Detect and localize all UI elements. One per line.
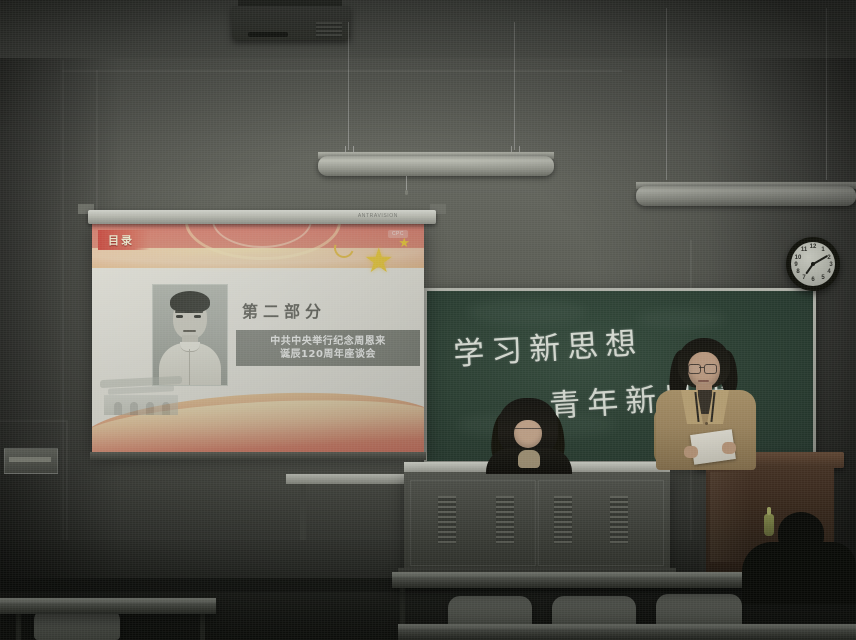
star-icon: ★ xyxy=(364,244,394,278)
classroom-photo: ANTRAVISION ★ ★ 目录 CPC xyxy=(0,0,856,640)
portrait-placket xyxy=(189,349,190,386)
slide-toc-badge: 目录 xyxy=(98,230,150,250)
portrait-eye xyxy=(194,315,201,318)
lamp-pull-cord[interactable] xyxy=(406,176,407,192)
person-foreground-body xyxy=(742,542,856,604)
portrait-eye xyxy=(176,315,183,318)
glasses-bridge xyxy=(699,367,704,368)
tiananmen-gate-icon xyxy=(100,374,182,418)
console-louver xyxy=(610,496,628,544)
water-bottle xyxy=(764,514,774,536)
slide-caption-line-1: 中共中央举行纪念周恩来 xyxy=(242,335,414,348)
lamp-wire xyxy=(348,22,349,150)
wall-seam xyxy=(62,70,622,72)
desk-edge xyxy=(398,624,856,629)
clock-numeral: 3 xyxy=(827,262,835,268)
glasses-icon xyxy=(515,428,541,435)
lamp-tube xyxy=(636,186,856,206)
tiananmen-arch xyxy=(146,402,154,415)
portrait-brow xyxy=(193,311,203,313)
console-louver xyxy=(438,496,456,544)
side-table-leg xyxy=(300,484,306,540)
console-door-left[interactable] xyxy=(410,480,536,566)
slide-corner-logo: CPC xyxy=(388,230,408,238)
slide-caption-band: 中共中央举行纪念周恩来 诞辰120周年座谈会 xyxy=(236,330,420,366)
clock-numeral: 10 xyxy=(794,255,802,261)
projection-screen-weight-bar xyxy=(90,452,426,460)
clock-face: 12 1 2 3 4 5 6 7 8 9 10 11 xyxy=(791,242,835,286)
slide-section-title: 第二部分 xyxy=(242,298,326,322)
hand-right xyxy=(722,442,736,454)
wall-clock: 12 1 2 3 4 5 6 7 8 9 10 11 xyxy=(786,237,840,291)
clock-numeral: 9 xyxy=(792,262,800,268)
clock-numeral: 8 xyxy=(794,269,802,275)
slide-caption-line-2: 诞辰120周年座谈会 xyxy=(242,348,414,361)
clock-centre-pin xyxy=(811,262,815,266)
tiananmen-arch xyxy=(130,402,138,415)
portrait-hair xyxy=(170,291,210,313)
person-seated-participant xyxy=(486,398,572,468)
lectern-highlight xyxy=(710,472,750,562)
presentation-slide: ★ ★ 目录 CPC 第二部分 中共中央举行纪念周恩来 诞辰120周年座 xyxy=(92,222,424,454)
teaching-console xyxy=(404,472,670,572)
lamp-wire xyxy=(514,22,515,150)
desk-leg xyxy=(16,612,21,640)
clock-numeral: 5 xyxy=(819,275,827,281)
console-louver xyxy=(496,496,514,544)
desk-edge xyxy=(0,598,216,603)
glasses-icon xyxy=(688,364,701,374)
person-standing-speaker xyxy=(654,338,758,470)
fluorescent-lamp-left xyxy=(318,142,554,178)
chalk-smudge xyxy=(637,309,727,329)
projection-screen: ★ ★ 目录 CPC 第二部分 中共中央举行纪念周恩来 诞辰120周年座 xyxy=(92,222,424,454)
student-desk-left xyxy=(0,598,216,614)
hand-left xyxy=(684,446,698,458)
projector-vent xyxy=(316,22,342,38)
wall-panel-slot xyxy=(9,457,51,462)
blackboard-text-line-1: 学习新思想 xyxy=(452,317,644,374)
clock-numeral: 11 xyxy=(800,247,808,253)
console-louver xyxy=(554,496,572,544)
clock-numeral: 12 xyxy=(809,244,817,250)
mouth xyxy=(698,380,709,382)
portrait-photo-zhou-enlai xyxy=(152,284,228,386)
clock-numeral: 7 xyxy=(800,275,808,281)
wall-utility-panel[interactable] xyxy=(4,448,58,474)
jacket-button xyxy=(705,422,708,425)
lamp-wire xyxy=(826,8,827,180)
portrait-brow xyxy=(175,311,185,313)
scarf xyxy=(518,450,540,468)
tiananmen-arch xyxy=(114,402,122,415)
ceiling-projector xyxy=(232,0,350,46)
clock-numeral: 6 xyxy=(809,277,817,283)
projector-body xyxy=(232,6,350,40)
desk-leg xyxy=(200,612,205,640)
clock-numeral: 1 xyxy=(819,247,827,253)
fluorescent-lamp-right xyxy=(636,172,856,206)
projection-screen-casing: ANTRAVISION xyxy=(88,210,436,224)
portrait-mouth xyxy=(183,330,196,332)
lamp-wire xyxy=(666,8,667,180)
projector-lens xyxy=(248,32,288,37)
screen-brand-label: ANTRAVISION xyxy=(358,213,398,219)
side-table xyxy=(286,474,406,484)
glasses-icon xyxy=(704,364,717,374)
tiananmen-arch xyxy=(162,402,170,415)
student-desk-row-front xyxy=(398,624,856,640)
lamp-tube xyxy=(318,156,554,176)
